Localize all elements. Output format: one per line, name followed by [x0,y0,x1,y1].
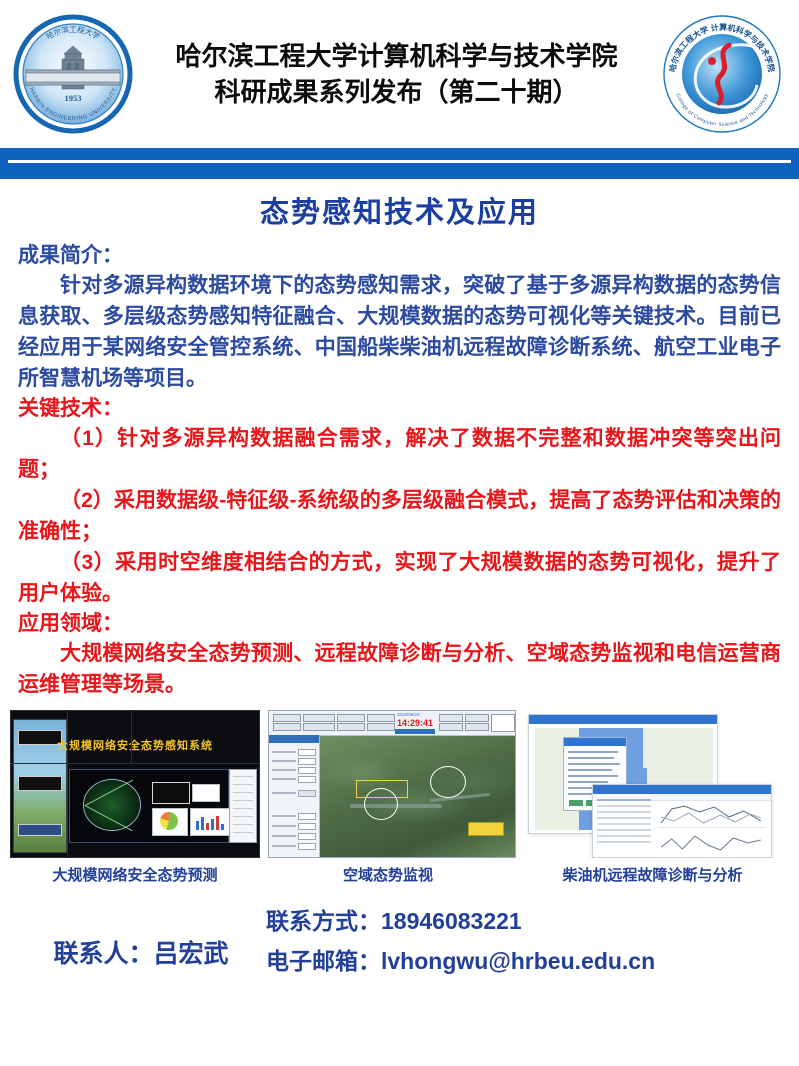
map-info-box [356,780,408,798]
bar-chart-thumb [196,816,224,830]
airspace-console-image: 2020/05/23 14:29:41 [268,710,516,858]
key-tech-item-3: （3）采用时空维度相结合的方式，实现了大规模数据的态势可视化，提升了用户体验。 [18,547,781,609]
map-window-titlebar [529,715,717,724]
figure-airspace-console: 2020/05/23 14:29:41 [268,710,516,858]
contact-email-label: 电子邮箱： [266,948,381,974]
console-parameter-panel [269,735,320,857]
chart-window [592,784,772,858]
wall-main-screen [69,769,229,843]
contact-phone-value: 18946083221 [381,908,522,934]
contact-person-name: 吕宏武 [154,940,229,968]
section-body-applications: 大规模网络安全态势预测、远程故障诊断与分析、空域态势监视和电信运营商运维管理等场… [18,638,781,700]
college-of-computer-science-logo: 哈尔滨工程大学 计算机科学与技术学院 College of Computer S… [659,11,785,137]
wall-screen-title: 大规模网络安全态势感知系统 [11,737,259,753]
contact-email-row: 电子邮箱：lvhongwu@hrbeu.edu.cn [266,941,655,981]
svg-text:1953: 1953 [65,93,82,103]
map-target-circle-1 [430,766,466,798]
figure-video-wall: 大规模网络安全态势感知系统 [10,710,260,858]
poster-title: 态势感知技术及应用 [18,193,781,233]
page-title: 哈尔滨工程大学计算机科学与技术学院 科研成果系列发布（第二十期） [134,38,659,110]
satellite-map [320,736,515,857]
line-chart-top [659,803,765,828]
section-body-overview: 针对多源异构数据环境下的态势感知需求，突破了基于多源异构数据的态势信息获取、多层… [18,270,781,394]
divider-white-rule [8,160,791,163]
header-title-line2: 科研成果系列发布（第二十期） [138,74,655,110]
video-wall-image: 大规模网络安全态势感知系统 [10,710,260,858]
figure-caption-row: 大规模网络安全态势预测 空域态势监视 柴油机远程故障诊断与分析 [0,864,799,885]
radar-display [84,780,140,830]
contact-phone-row: 联系方式：18946083221 [266,901,655,941]
chart-window-titlebar [593,785,771,794]
figure-row: 大规模网络安全态势感知系统 [0,710,799,858]
line-chart-bottom [659,831,765,853]
console-toolbar: 2020/05/23 14:29:41 [269,711,515,736]
key-tech-item-2: （2）采用数据级-特征级-系统级的多层级融合模式，提高了态势评估和决策的准确性； [18,485,781,547]
pie-chart-thumb [160,812,178,830]
poster-content: 态势感知技术及应用 成果简介： 针对多源异构数据环境下的态势感知需求，突破了基于… [0,179,799,700]
contact-person-label: 联系人： [53,940,153,968]
figure-caption-2: 空域态势监视 [260,864,516,885]
contact-person: 联系人：吕宏武 [16,912,266,970]
poster-header: 1953 哈尔滨工程大学 HARBIN ENGINEERING UNIVERSI… [0,0,799,148]
header-divider-bar [0,148,799,179]
figure-diesel-dashboard [524,710,789,858]
data-table [597,799,655,853]
section-heading-applications: 应用领域： [18,609,781,638]
key-tech-item-1: （1）针对多源异构数据融合需求，解决了数据不完整和数据冲突等突出问题； [18,423,781,485]
contact-block: 联系人：吕宏武 联系方式：18946083221 电子邮箱：lvhongwu@h… [0,901,799,981]
wall-right-panel [229,769,257,843]
map-yellow-label [468,822,504,836]
console-date: 2020/05/23 [397,712,420,717]
figure-caption-1: 大规模网络安全态势预测 [10,864,260,885]
header-title-line1: 哈尔滨工程大学计算机科学与技术学院 [175,41,617,71]
section-heading-overview: 成果简介： [18,241,781,270]
contact-details: 联系方式：18946083221 电子邮箱：lvhongwu@hrbeu.edu… [266,901,655,981]
harbin-engineering-university-logo: 1953 哈尔滨工程大学 HARBIN ENGINEERING UNIVERSI… [12,13,134,135]
diesel-dashboard-image [524,710,789,858]
contact-email-value: lvhongwu@hrbeu.edu.cn [381,948,655,974]
console-clock: 14:29:41 [397,718,433,728]
figure-caption-3: 柴油机远程故障诊断与分析 [516,864,789,885]
section-heading-key-tech: 关键技术： [18,394,781,423]
contact-phone-label: 联系方式： [266,908,381,934]
